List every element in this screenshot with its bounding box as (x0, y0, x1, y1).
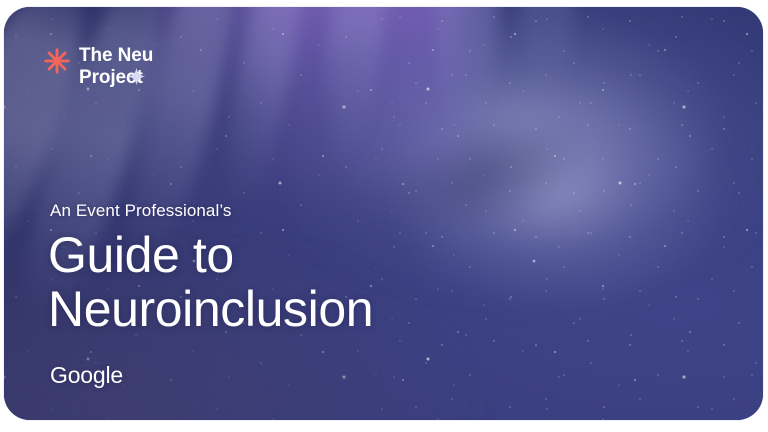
google-wordmark: Google (50, 362, 123, 388)
page-title: Guide to Neuroinclusion (48, 228, 373, 336)
slide-frame: The Neu Project An Event Professional’s … (0, 0, 768, 432)
brand-logo-lockup[interactable]: The Neu Project (44, 45, 153, 89)
asterisk-star-icon (44, 48, 70, 74)
eyebrow-text: An Event Professional’s (50, 200, 373, 222)
title-block: An Event Professional’s Guide to Neuroin… (48, 200, 373, 336)
title-slide-card: The Neu Project An Event Professional’s … (4, 7, 763, 420)
four-point-sparkle-icon (127, 67, 146, 86)
